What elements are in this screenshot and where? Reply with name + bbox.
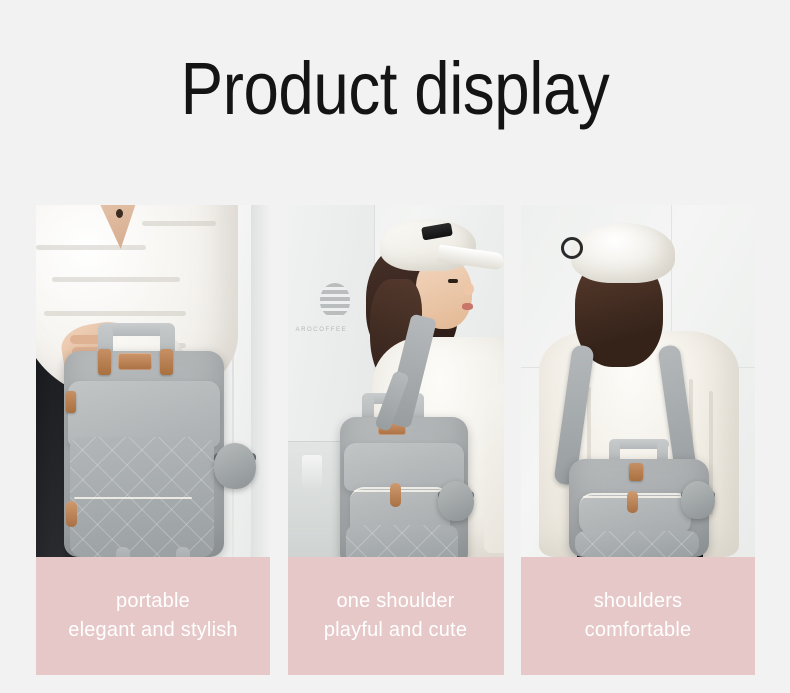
model-eye xyxy=(448,279,458,283)
backpack-accessory-pouch xyxy=(214,443,256,489)
zipper-line xyxy=(74,497,192,499)
leather-tab xyxy=(98,349,111,375)
product-panel-one-shoulder[interactable]: AROCOFFEE xyxy=(288,205,504,675)
backpack-accessory-pouch xyxy=(438,481,474,521)
product-panel-grid: portable elegant and stylish AROCOFFEE xyxy=(36,205,755,675)
backpack-quilted-panel xyxy=(346,525,458,557)
panel-caption-shoulders: shoulders comfortable xyxy=(521,557,755,675)
product-display-page: Product display xyxy=(0,0,790,693)
cafe-logo-icon xyxy=(320,283,350,317)
backpack-back-view xyxy=(569,459,709,557)
beret-ribbon-icon xyxy=(561,237,583,259)
product-photo-one-shoulder: AROCOFFEE xyxy=(288,205,504,557)
leather-tab xyxy=(629,463,643,481)
side-zipper-pull xyxy=(66,501,77,527)
zipper-pull xyxy=(627,491,638,513)
blouse-fold xyxy=(36,245,146,250)
caption-line-2: playful and cute xyxy=(324,617,467,644)
product-photo-shoulders xyxy=(521,205,755,557)
caption-line-1: one shoulder xyxy=(336,588,454,615)
backpack-front-pocket xyxy=(579,493,691,535)
model-beret xyxy=(571,223,675,283)
coffee-cup xyxy=(302,455,322,489)
product-photo-front xyxy=(36,205,270,557)
caption-line-2: comfortable xyxy=(585,617,692,644)
blouse-fold xyxy=(52,277,180,282)
backpack-shoulder-strap xyxy=(176,547,190,557)
leather-side-tab xyxy=(66,391,76,413)
zipper-pull xyxy=(390,483,401,507)
backpack-logo-patch xyxy=(118,353,152,370)
product-panel-shoulders[interactable]: shoulders comfortable xyxy=(521,205,755,675)
wall-panel-right xyxy=(251,205,270,557)
panel-caption-front: portable elegant and stylish xyxy=(36,557,270,675)
model-lips xyxy=(462,303,473,310)
product-panel-front[interactable]: portable elegant and stylish xyxy=(36,205,270,675)
panel-caption-one-shoulder: one shoulder playful and cute xyxy=(288,557,504,675)
page-title: Product display xyxy=(55,44,734,134)
model-arm xyxy=(484,383,504,553)
backpack-body xyxy=(64,351,224,557)
caption-line-2: elegant and stylish xyxy=(68,617,237,644)
necklace-pendant xyxy=(116,209,123,218)
backpack-accessory-pouch xyxy=(681,481,715,519)
backpack-front-view xyxy=(64,351,224,557)
blouse-fold xyxy=(44,311,186,316)
backpack-one-shoulder-view xyxy=(340,417,468,557)
caption-line-1: portable xyxy=(116,588,190,615)
model-nose xyxy=(464,283,474,295)
leather-tab xyxy=(160,349,173,375)
blouse-fold xyxy=(142,221,216,226)
backpack-shoulder-strap xyxy=(116,547,130,557)
caption-line-1: shoulders xyxy=(594,588,683,615)
backpack-quilted-panel xyxy=(575,531,699,557)
